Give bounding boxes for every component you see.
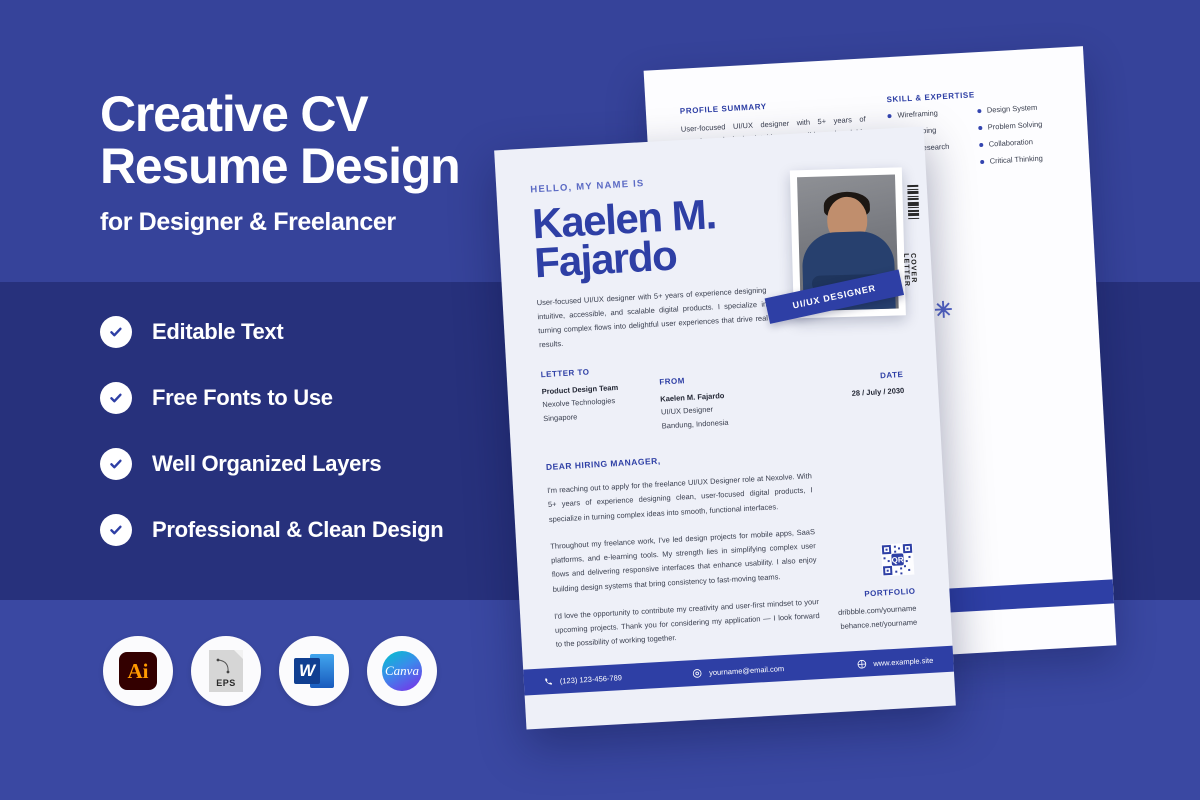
word-letter: W [294,658,320,684]
skill-label: Wireframing [897,108,938,119]
phone-icon [544,677,553,686]
software-badge-list: Ai EPS W Canva [103,636,437,706]
profile-summary-title: PROFILE SUMMARY [680,96,865,115]
canva-icon: Canva [382,651,422,691]
footer-phone: (123) 123-456-789 [560,673,623,685]
adobe-illustrator-icon: Ai [119,652,157,690]
letter-paragraph: Throughout my freelance work, I've led d… [550,525,818,597]
letter-to-label: LETTER TO [540,363,658,379]
bullet-icon [980,159,984,163]
portfolio-label: PORTFOLIO [797,587,915,603]
bullet-icon [887,113,891,117]
bullet-icon [979,142,983,146]
feature-label: Well Organized Layers [152,451,381,477]
headline-line-1: Creative CV [100,86,368,142]
footer-phone-item: (123) 123-456-789 [544,670,674,686]
skill-label: Design System [987,103,1038,115]
list-item: Critical Thinking [979,153,1055,166]
badge-eps: EPS [191,636,261,706]
list-item: Wireframing [887,107,963,120]
list-item: Design System [977,102,1053,115]
badge-canva: Canva [367,636,437,706]
feature-label: Free Fonts to Use [152,385,333,411]
bullet-icon [978,125,982,129]
list-item: Problem Solving [978,119,1054,132]
skills-column-right: Design System Problem Solving Collaborat… [977,102,1056,174]
list-item: Collaboration [978,136,1054,149]
letter-paragraph: I'd love the opportunity to contribute m… [554,595,821,652]
front-card-bio: User-focused UI/UX designer with 5+ year… [536,284,769,352]
check-circle-icon [100,514,132,546]
date-block: DATE 28 / July / 2030 [851,370,905,401]
promo-heading-block: Creative CV Resume Design for Designer &… [100,88,570,237]
cover-letter-vertical-label: COVER LETTER [902,253,918,315]
skills-title: SKILL & EXPERTISE [886,86,1051,104]
list-item: Editable Text [100,315,443,349]
eps-file-icon: EPS [209,650,243,692]
footer-website-item: www.example.site [803,655,933,671]
skill-label: Critical Thinking [989,154,1043,166]
salutation: DEAR HIRING MANAGER, [546,442,908,472]
skill-label: Problem Solving [988,120,1043,132]
check-circle-icon [100,316,132,348]
email-icon [693,668,702,677]
badge-word: W [279,636,349,706]
feature-list: Editable Text Free Fonts to Use Well Org… [100,315,443,579]
list-item: Free Fonts to Use [100,381,443,415]
footer-email: yourname@email.com [709,664,785,677]
from-block: FROM Kaelen M. Fajardo UI/UX Designer Ba… [658,357,780,434]
letter-to-block: LETTER TO Product Design Team Nexolve Te… [540,363,662,440]
letter-paragraph: I'm reaching out to apply for the freela… [547,469,814,526]
check-circle-icon [100,448,132,480]
globe-icon [857,659,866,668]
page-title: Creative CV Resume Design [100,88,570,192]
barcode-icon [907,185,919,219]
footer-website: www.example.site [873,655,933,667]
list-item: Well Organized Layers [100,447,443,481]
eps-label: EPS [216,678,236,688]
svg-text:QR: QR [891,555,904,565]
page-subtitle: for Designer & Freelancer [100,208,570,237]
from-label: FROM [659,371,777,387]
feature-label: Professional & Clean Design [152,517,443,543]
qr-code-icon: QR [881,543,915,577]
skill-label: Collaboration [988,137,1033,148]
microsoft-word-icon: W [294,651,334,691]
badge-illustrator: Ai [103,636,173,706]
footer-email-item: yourname@email.com [673,662,803,678]
portfolio-block: QR PORTFOLIO dribbble.com/yourname behan… [795,543,918,636]
list-item: Professional & Clean Design [100,513,443,547]
feature-label: Editable Text [152,319,283,345]
date-value: 28 / July / 2030 [851,384,904,401]
check-circle-icon [100,382,132,414]
headline-line-2: Resume Design [100,140,570,192]
date-label: DATE [851,370,904,382]
bullet-icon [977,108,981,112]
